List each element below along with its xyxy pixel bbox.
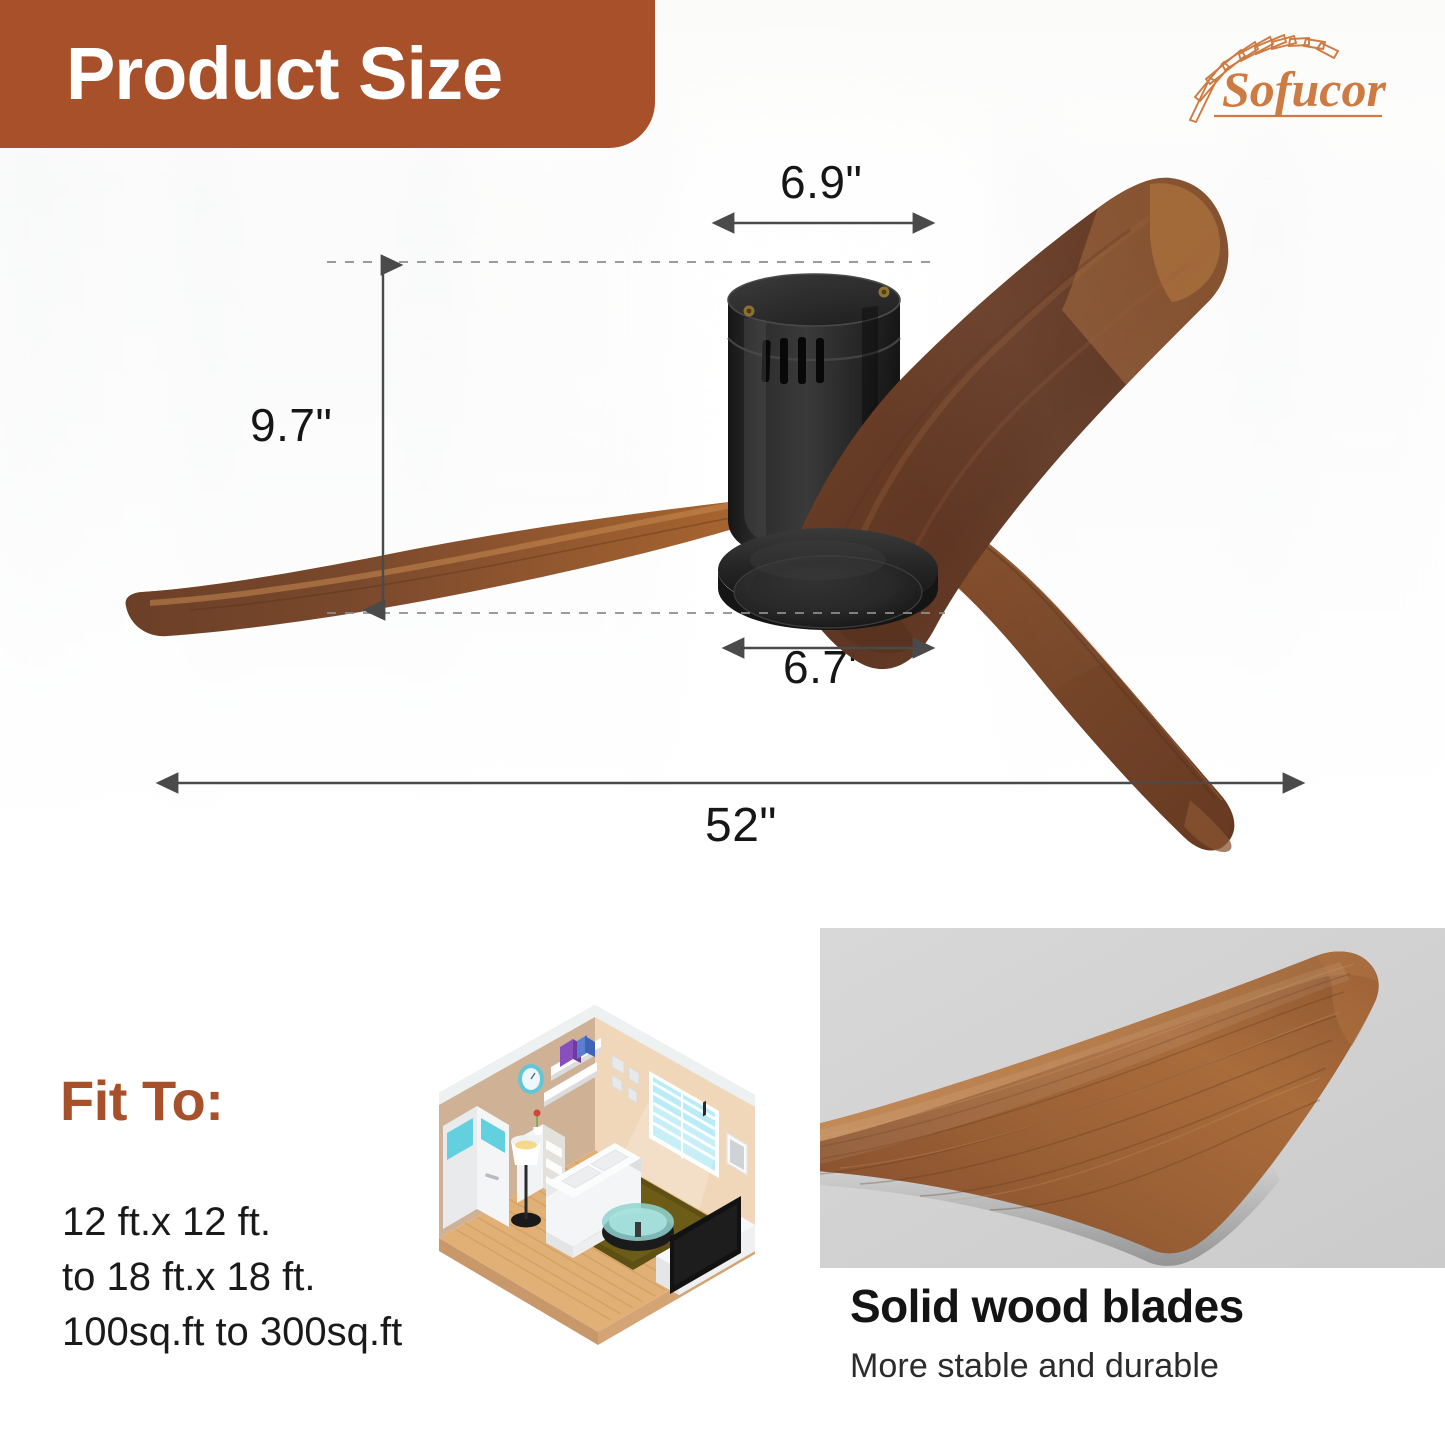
fit-to-text-block: 12 ft.x 12 ft. to 18 ft.x 18 ft. 100sq.f… [62,1195,402,1361]
solid-wood-blade-feature-panel: Solid wood blades More stable and durabl… [820,928,1445,1445]
fit-to-line-3: 100sq.ft to 300sq.ft [62,1305,402,1360]
feature-subtitle: More stable and durable [850,1347,1445,1386]
section-title-badge: Product Size [0,0,655,148]
isometric-living-room-icon [425,975,790,1375]
brand-logo: Sofucor [1184,24,1399,142]
feature-caption: Solid wood blades More stable and durabl… [850,1280,1445,1386]
feature-title: Solid wood blades [850,1280,1445,1333]
brand-name: Sofucor [1222,61,1386,117]
page-title: Product Size [0,37,502,111]
wood-blade-closeup-photo [820,928,1445,1268]
fit-to-title: Fit To: [60,1068,223,1133]
fit-to-line-1: 12 ft.x 12 ft. [62,1195,402,1250]
fit-to-line-2: to 18 ft.x 18 ft. [62,1250,402,1305]
